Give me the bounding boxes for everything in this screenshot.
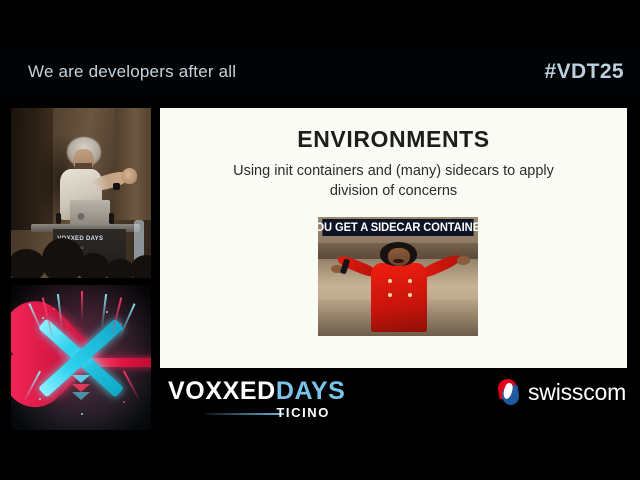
speaker-wristwatch	[113, 183, 120, 190]
webcam-wall-panel	[115, 108, 151, 220]
audience-head	[11, 249, 45, 278]
voxxed-wordmark: VOXXEDDAYS	[168, 378, 348, 404]
podium-microphone-right	[109, 213, 114, 223]
voxxed-word: VOXXED	[168, 377, 276, 405]
neon-dot	[120, 323, 122, 325]
neon-chevron	[72, 392, 90, 400]
event-hashtag: #VDT25	[545, 60, 624, 84]
speaker-webcam-feed: VOXXED DAYS TICINO	[11, 108, 151, 278]
slide-header-bar: We are developers after all #VDT25	[0, 48, 640, 96]
audience-head	[131, 255, 151, 278]
swisscom-mark-icon	[496, 379, 521, 406]
voxxed-days-logo: VOXXEDDAYS TICINO	[168, 378, 348, 420]
presentation-slide: ENVIRONMENTS Using init containers and (…	[160, 108, 627, 368]
meme-hand-right	[457, 256, 470, 264]
video-frame: We are developers after all #VDT25 VOXXE…	[0, 0, 640, 480]
meme-red-jacket	[371, 263, 427, 332]
neon-dot	[123, 401, 125, 403]
neon-spike	[81, 291, 83, 323]
podium-microphone-left	[56, 213, 61, 223]
meme-jacket-button	[408, 293, 412, 297]
days-word: DAYS	[276, 377, 346, 405]
speaker-laptop	[70, 200, 111, 226]
meme-caption-text: YOU GET A SIDECAR CONTAINER	[322, 219, 473, 236]
neon-dot	[81, 413, 83, 415]
audience-silhouettes	[11, 234, 151, 278]
neon-chevron	[72, 375, 90, 383]
logo-divider-line	[206, 413, 284, 415]
laptop-logo	[78, 213, 85, 220]
audience-head	[78, 253, 109, 278]
speaker-hand	[122, 168, 137, 183]
talk-title: We are developers after all	[28, 62, 236, 82]
swisscom-wordmark: swisscom	[528, 379, 626, 406]
neon-chevron	[72, 384, 90, 392]
meme-jacket-button	[408, 279, 412, 283]
meme-image: YOU GET A SIDECAR CONTAINER	[318, 217, 478, 336]
event-branding-artwork	[11, 285, 151, 430]
meme-person-face	[388, 248, 410, 266]
slide-subtitle: Using init containers and (many) sidecar…	[219, 161, 569, 201]
swisscom-sponsor-logo: swisscom	[496, 379, 626, 406]
neon-dot	[42, 317, 44, 319]
city-label: TICINO	[276, 405, 330, 420]
audience-head	[106, 259, 134, 278]
voxxed-city-row: TICINO	[168, 405, 348, 419]
slide-title: ENVIRONMENTS	[160, 126, 627, 153]
